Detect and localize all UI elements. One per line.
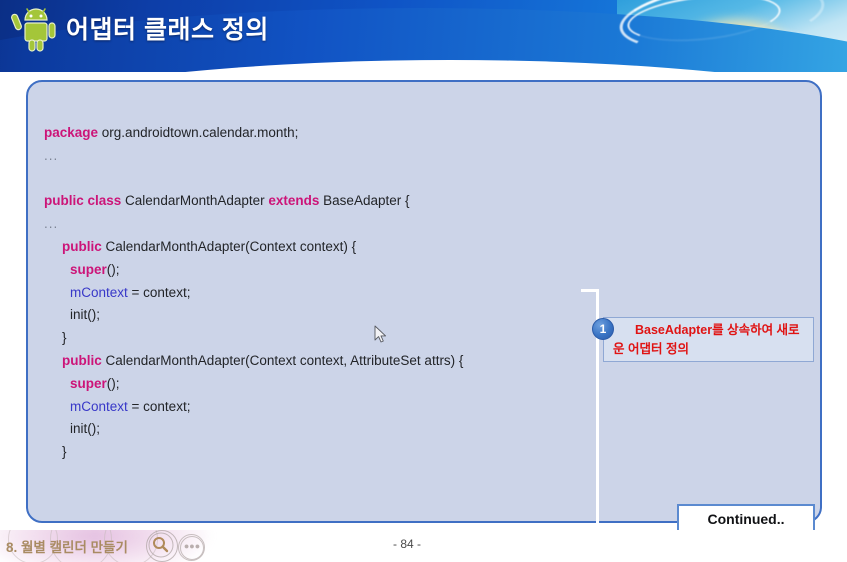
code-ellipsis: ... <box>44 148 58 163</box>
continued-badge: Continued.. <box>677 504 815 533</box>
code-line: super(); <box>44 373 744 396</box>
mouse-cursor-icon <box>374 325 387 343</box>
code-line: ... <box>44 145 744 168</box>
ellipsis-icon[interactable]: ●●● <box>180 536 204 560</box>
magnifier-icon[interactable] <box>148 532 174 558</box>
code-text: } <box>62 330 67 345</box>
code-variable: mContext <box>70 285 128 300</box>
code-ellipsis: ... <box>44 216 58 231</box>
android-robot-icon <box>9 4 61 52</box>
code-text: CalendarMonthAdapter <box>121 193 268 208</box>
code-line <box>44 168 744 191</box>
code-line: public class CalendarMonthAdapter extend… <box>44 190 744 213</box>
code-keyword: public class <box>44 193 121 208</box>
code-keyword: public <box>62 353 102 368</box>
code-line: mContext = context; <box>44 396 744 419</box>
code-text: } <box>62 444 67 459</box>
page-title: 어댑터 클래스 정의 <box>66 10 269 46</box>
code-keyword: public <box>62 239 102 254</box>
code-text: CalendarMonthAdapter(Context context, At… <box>102 353 464 368</box>
code-keyword: package <box>44 125 98 140</box>
code-panel: package org.androidtown.calendar.month;.… <box>26 80 822 523</box>
code-text: = context; <box>128 285 191 300</box>
code-text: BaseAdapter { <box>319 193 409 208</box>
code-text: (); <box>107 262 120 277</box>
code-text: init(); <box>70 421 100 436</box>
code-line: } <box>44 441 744 464</box>
slide-header: 어댑터 클래스 정의 <box>0 0 847 72</box>
code-line: super(); <box>44 259 744 282</box>
code-keyword: super <box>70 262 107 277</box>
slide-footer: 8. 월별 캘린더 만들기 ●●● - 84 - <box>0 530 847 562</box>
code-text: CalendarMonthAdapter(Context context) { <box>102 239 356 254</box>
code-line: init(); <box>44 418 744 441</box>
code-text: (); <box>107 376 120 391</box>
code-line: package org.androidtown.calendar.month; <box>44 122 744 145</box>
callout-badge-1: 1 <box>592 318 614 340</box>
page-number: - 84 - <box>393 537 421 551</box>
code-text: org.androidtown.calendar.month; <box>98 125 298 140</box>
code-keyword: super <box>70 376 107 391</box>
code-text: init(); <box>70 307 100 322</box>
code-variable: mContext <box>70 399 128 414</box>
callout-box: BaseAdapter를 상속하여 새로운 어댑터 정의 <box>603 317 814 362</box>
code-listing: package org.androidtown.calendar.month;.… <box>44 122 744 464</box>
footer-section-title: 8. 월별 캘린더 만들기 <box>6 536 128 556</box>
code-text: = context; <box>128 399 191 414</box>
code-line: ... <box>44 213 744 236</box>
code-keyword: extends <box>268 193 319 208</box>
code-line: public CalendarMonthAdapter(Context cont… <box>44 236 744 259</box>
code-line: mContext = context; <box>44 282 744 305</box>
callout-text: BaseAdapter를 상속하여 새로운 어댑터 정의 <box>613 321 811 359</box>
